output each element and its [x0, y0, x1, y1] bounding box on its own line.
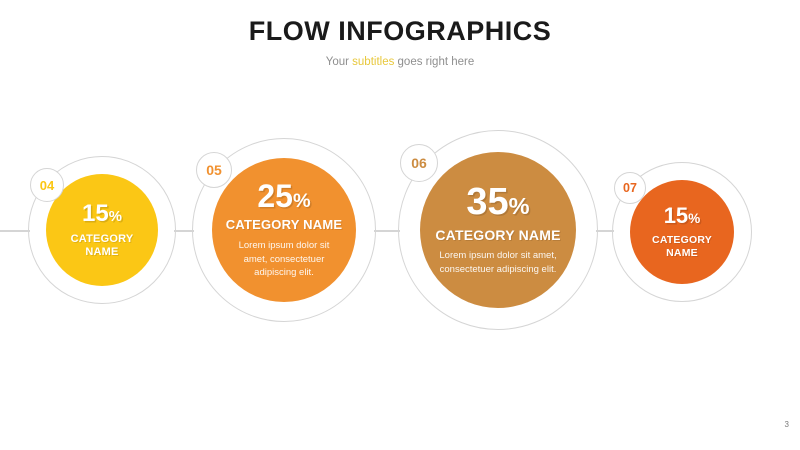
- percent-value: 25%: [257, 180, 310, 212]
- subtitle-suffix: goes right here: [394, 56, 474, 68]
- flow-connector-3: [374, 230, 400, 232]
- percent-symbol: %: [509, 193, 530, 219]
- page-title: FLOW INFOGRAPHICS: [0, 0, 800, 47]
- flow-diagram: 15%CATEGORY NAME0425%CATEGORY NAMELorem …: [0, 130, 800, 330]
- flow-connector-2: [174, 230, 194, 232]
- subtitle-highlight: subtitles: [352, 56, 394, 68]
- page-number: 3: [785, 420, 789, 429]
- flow-node-badge[interactable]: 05: [196, 152, 232, 188]
- percent-symbol: %: [109, 209, 122, 225]
- page-subtitle: Your subtitles goes right here: [0, 47, 800, 68]
- percent-symbol: %: [293, 190, 311, 212]
- flow-connector-4: [596, 230, 614, 232]
- slide-header: FLOW INFOGRAPHICS Your subtitles goes ri…: [0, 0, 800, 68]
- flow-connector-1: [0, 230, 30, 232]
- percent-value: 15%: [664, 205, 701, 227]
- flow-node-badge[interactable]: 06: [400, 144, 438, 182]
- category-name: CATEGORY NAME: [435, 227, 560, 243]
- category-name: CATEGORY NAME: [226, 218, 342, 233]
- flow-node-disc[interactable]: 15%CATEGORY NAME: [630, 180, 734, 284]
- flow-node-disc[interactable]: 35%CATEGORY NAMELorem ipsum dolor sit am…: [420, 152, 576, 308]
- flow-node-disc[interactable]: 25%CATEGORY NAMELorem ipsum dolor sit am…: [212, 158, 356, 302]
- percent-value: 35%: [466, 183, 529, 221]
- flow-node-badge[interactable]: 07: [614, 172, 646, 204]
- node-description: Lorem ipsum dolor sit amet, consectetuer…: [437, 249, 559, 277]
- percent-value: 15%: [82, 202, 122, 226]
- percent-symbol: %: [688, 211, 700, 226]
- subtitle-prefix: Your: [326, 56, 352, 68]
- node-description: Lorem ipsum dolor sit amet, consectetuer…: [229, 239, 339, 280]
- flow-node-badge[interactable]: 04: [30, 168, 64, 202]
- category-name: CATEGORY NAME: [637, 234, 727, 258]
- category-name: CATEGORY NAME: [53, 233, 151, 258]
